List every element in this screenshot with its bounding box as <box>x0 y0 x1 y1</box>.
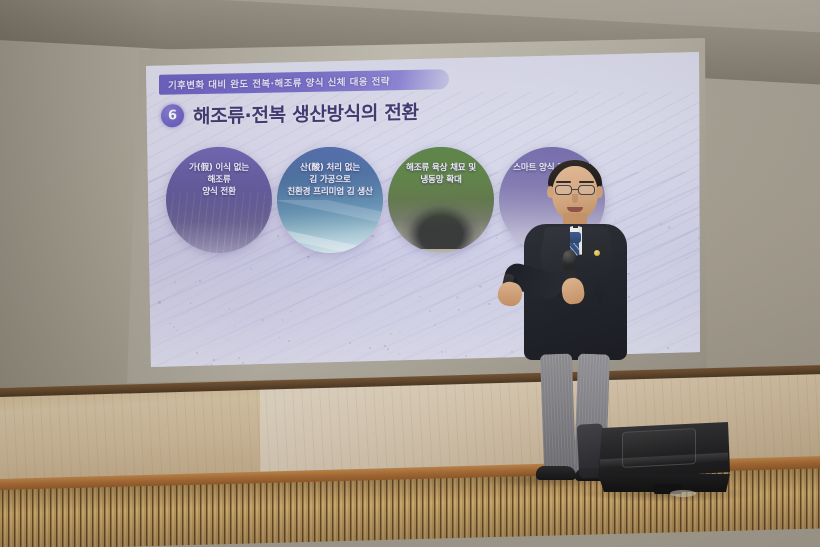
slide-circle-1-label: 가(假) 이식 없는 해조류 양식 전환 <box>171 163 267 199</box>
speaker-ear-left <box>547 186 554 198</box>
stage-monitor-speaker <box>594 414 734 498</box>
presentation-photo-scene: 기후변화 대비 완도 전복·해조류 양식 신체 대응 전략 6 해조류·전복 생… <box>0 0 820 547</box>
speaker-trouser-leg-left <box>540 353 576 472</box>
slide-circle-3-label: 해조류 육상 채묘 및 냉동망 확대 <box>393 163 489 187</box>
slide-title: 해조류·전복 생산방식의 전환 <box>193 98 419 129</box>
slide-title-row: 6 해조류·전복 생산방식의 전환 <box>161 98 419 130</box>
eyeglasses-icon-bridge <box>572 189 578 190</box>
speaker-nose <box>572 194 578 203</box>
slide-circle-3: 해조류 육상 채묘 및 냉동망 확대 <box>388 147 494 253</box>
stage-monitor-cable <box>670 490 696 497</box>
speaker-shoe-left <box>536 466 576 480</box>
slide-circle-2-label: 산(酸) 처리 없는 김 가공으로 친환경 프리미엄 김 생산 <box>282 163 378 199</box>
lapel-pin-icon <box>594 250 600 256</box>
speaker-ear-right <box>596 186 603 198</box>
slide-circle-2: 산(酸) 처리 없는 김 가공으로 친환경 프리미엄 김 생산 <box>277 147 383 253</box>
speaker-mouth <box>567 207 583 212</box>
eyeglasses-icon-left-lens <box>555 185 572 195</box>
stage-monitor-grille-panel <box>622 428 696 468</box>
slide-header-ribbon-text: 기후변화 대비 완도 전복·해조류 양식 신체 대응 전략 <box>159 73 390 91</box>
slide-circle-1: 가(假) 이식 없는 해조류 양식 전환 <box>166 147 272 253</box>
slide-section-number-badge: 6 <box>161 104 184 127</box>
eyeglasses-icon-right-lens <box>578 185 595 195</box>
